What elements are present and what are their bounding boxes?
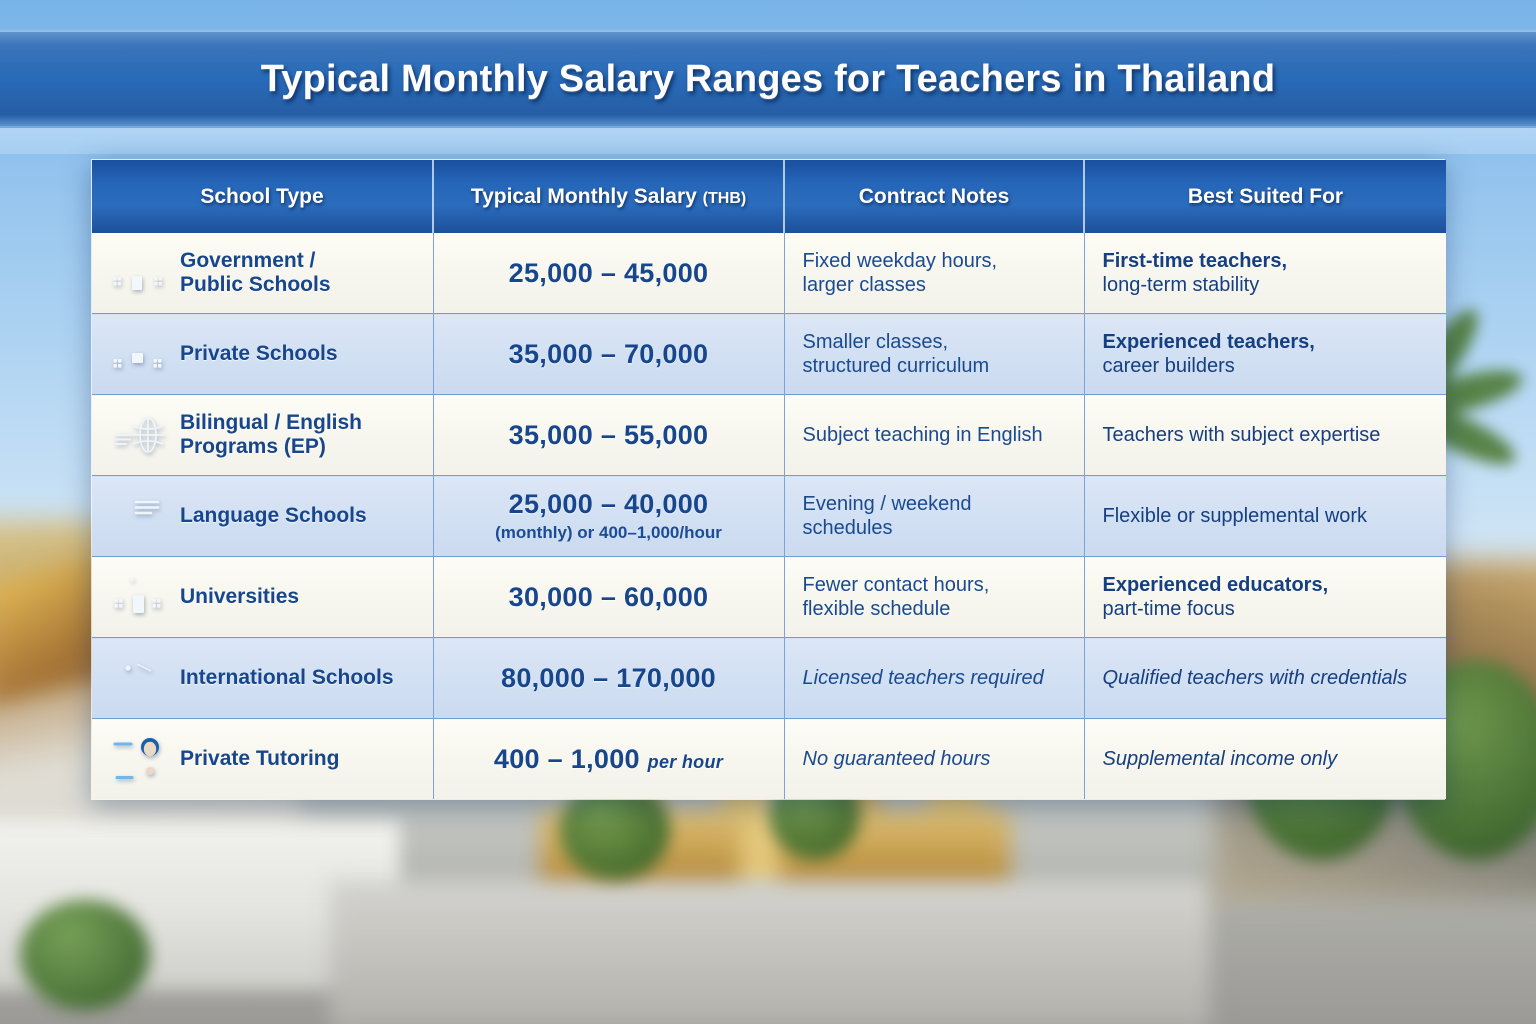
cell-contract-notes: Fixed weekday hours,larger classes — [784, 233, 1084, 314]
cell-contract-notes: Evening / weekend schedules — [784, 476, 1084, 557]
page-title: Typical Monthly Salary Ranges for Teache… — [261, 58, 1276, 101]
salary-range: 30,000 – 60,000 — [452, 582, 766, 613]
cell-salary: 35,000 – 70,000 — [433, 314, 784, 395]
table-row[interactable]: Universities30,000 – 60,000Fewer contact… — [92, 557, 1446, 638]
column-header-best-suited-for[interactable]: Best Suited For — [1084, 160, 1446, 233]
cell-best-suited-for: First-time teachers,long-term stability — [1084, 233, 1446, 314]
cell-best-suited-for: Qualified teachers with credentials — [1084, 638, 1446, 719]
column-header-contract-notes[interactable]: Contract Notes — [784, 160, 1084, 233]
university-building-icon — [106, 569, 168, 625]
school-type-label: Private Tutoring — [180, 747, 339, 771]
cell-salary: 25,000 – 45,000 — [433, 233, 784, 314]
cell-school-type: Private Tutoring — [92, 719, 433, 800]
column-header-school-type[interactable]: School Type — [92, 160, 433, 233]
cell-contract-notes: Licensed teachers required — [784, 638, 1084, 719]
table-row[interactable]: International Schools80,000 – 170,000Lic… — [92, 638, 1446, 719]
cell-school-type: Private Schools — [92, 314, 433, 395]
salary-range: 35,000 – 55,000 — [452, 420, 766, 451]
cell-salary: 30,000 – 60,000 — [433, 557, 784, 638]
cell-school-type: Bilingual / EnglishPrograms (EP) — [92, 395, 433, 476]
table-row[interactable]: Language Schools25,000 – 40,000(monthly)… — [92, 476, 1446, 557]
school-type-label: Universities — [180, 585, 299, 609]
salary-table-container: School Type Typical Monthly Salary (THB)… — [91, 159, 1445, 800]
plaza-blur — [330, 880, 1210, 1024]
school-type-label: Private Schools — [180, 342, 338, 366]
cell-best-suited-for: Experienced educators,part-time focus — [1084, 557, 1446, 638]
cell-salary: 80,000 – 170,000 — [433, 638, 784, 719]
table-header-row: School Type Typical Monthly Salary (THB)… — [92, 160, 1446, 233]
school-type-label: Government /Public Schools — [180, 249, 331, 298]
school-type-label: International Schools — [180, 666, 394, 690]
suited-emphasis: Experienced teachers, — [1103, 331, 1315, 353]
cell-school-type: International Schools — [92, 638, 433, 719]
cell-best-suited-for: Supplemental income only — [1084, 719, 1446, 800]
graduation-cap-icon — [106, 650, 168, 706]
cell-best-suited-for: Flexible or supplemental work — [1084, 476, 1446, 557]
speech-globe-icon — [106, 407, 168, 463]
salary-range: 80,000 – 170,000 — [452, 663, 766, 694]
column-header-label: Contract Notes — [859, 185, 1010, 208]
column-header-salary[interactable]: Typical Monthly Salary (THB) — [433, 160, 784, 233]
salary-subnote: (monthly) or 400–1,000/hour — [452, 523, 766, 543]
school-type-label: Language Schools — [180, 504, 367, 528]
salary-range: 35,000 – 70,000 — [452, 339, 766, 370]
column-header-label: Best Suited For — [1188, 185, 1343, 208]
salary-table: School Type Typical Monthly Salary (THB)… — [92, 160, 1446, 799]
salary-unit: per hour — [648, 752, 723, 772]
cell-contract-notes: Smaller classes,structured curriculum — [784, 314, 1084, 395]
school-building-flag-icon — [106, 245, 168, 301]
table-header: School Type Typical Monthly Salary (THB)… — [92, 160, 1446, 233]
table-row[interactable]: Bilingual / EnglishPrograms (EP)35,000 –… — [92, 395, 1446, 476]
column-header-currency: (THB) — [703, 190, 747, 207]
cell-school-type: Language Schools — [92, 476, 433, 557]
table-body: Government /Public Schools25,000 – 45,00… — [92, 233, 1446, 799]
school-type-label: Bilingual / EnglishPrograms (EP) — [180, 411, 362, 460]
column-header-label: Typical Monthly Salary — [471, 185, 697, 208]
cell-salary: 35,000 – 55,000 — [433, 395, 784, 476]
column-header-label: School Type — [200, 185, 323, 208]
cell-salary: 25,000 – 40,000(monthly) or 400–1,000/ho… — [433, 476, 784, 557]
private-school-building-icon — [106, 326, 168, 382]
table-row[interactable]: Government /Public Schools25,000 – 45,00… — [92, 233, 1446, 314]
suited-emphasis: Experienced educators, — [1103, 574, 1329, 596]
cell-salary: 400 – 1,000 per hour — [433, 719, 784, 800]
salary-range: 25,000 – 40,000 — [452, 489, 766, 520]
salary-range: 25,000 – 45,000 — [452, 258, 766, 289]
cell-contract-notes: Fewer contact hours,flexible schedule — [784, 557, 1084, 638]
table-row[interactable]: Private Tutoring400 – 1,000 per hourNo g… — [92, 719, 1446, 800]
cell-best-suited-for: Experienced teachers,career builders — [1084, 314, 1446, 395]
tutor-person-chat-icon — [106, 731, 168, 787]
title-banner: Typical Monthly Salary Ranges for Teache… — [0, 30, 1536, 128]
cell-best-suited-for: Teachers with subject expertise — [1084, 395, 1446, 476]
title-under-band — [0, 128, 1536, 154]
table-row[interactable]: Private Schools35,000 – 70,000Smaller cl… — [92, 314, 1446, 395]
suited-emphasis: First-time teachers, — [1103, 250, 1288, 272]
cell-contract-notes: No guaranteed hours — [784, 719, 1084, 800]
chat-bubble-person-icon — [106, 488, 168, 544]
salary-range: 400 – 1,000 per hour — [452, 744, 766, 775]
cell-school-type: Universities — [92, 557, 433, 638]
tree-blur — [20, 900, 150, 1010]
cell-contract-notes: Subject teaching in English — [784, 395, 1084, 476]
cell-school-type: Government /Public Schools — [92, 233, 433, 314]
